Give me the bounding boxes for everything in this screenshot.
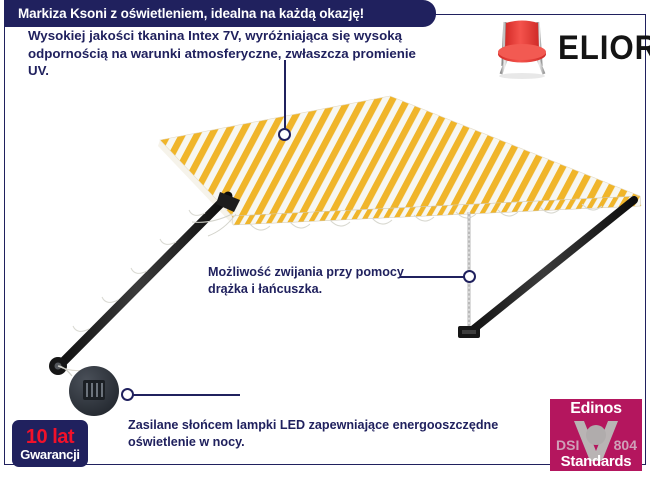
leader-marker-crank: [463, 270, 476, 283]
header-banner: Markiza Ksoni z oświetleniem, idealna na…: [4, 0, 436, 27]
edinos-badge: Edinos DSI 804 Standards: [550, 399, 642, 471]
red-chair-icon: [494, 16, 550, 80]
product-infographic: Markiza Ksoni z oświetleniem, idealna na…: [0, 0, 650, 477]
leader-line-led: [127, 394, 240, 396]
leader-marker-fabric: [278, 128, 291, 141]
warranty-label: Gwarancji: [20, 448, 79, 461]
brand-name: ELIOR: [558, 31, 650, 65]
note-fabric: Wysokiej jakości tkanina Intex 7V, wyróż…: [28, 27, 428, 80]
brand-logo: ELIOR: [494, 14, 638, 82]
note-crank: Możliwość zwijania przy pomocy drążka i …: [208, 264, 423, 297]
note-led: Zasilane słońcem lampki LED zapewniające…: [128, 417, 508, 450]
right-support-arm: [458, 200, 634, 338]
edinos-standards: Standards: [550, 453, 642, 470]
left-support-arm: [49, 196, 228, 375]
warranty-years: 10 lat: [26, 427, 74, 447]
leader-marker-led: [121, 388, 134, 401]
banner-title: Markiza Ksoni z oświetleniem, idealna na…: [18, 6, 364, 21]
edinos-code-right: 804: [614, 437, 637, 453]
warranty-badge: 10 lat Gwarancji: [12, 420, 88, 467]
edinos-code-left: DSI: [556, 437, 579, 453]
solar-panel: [58, 366, 119, 416]
